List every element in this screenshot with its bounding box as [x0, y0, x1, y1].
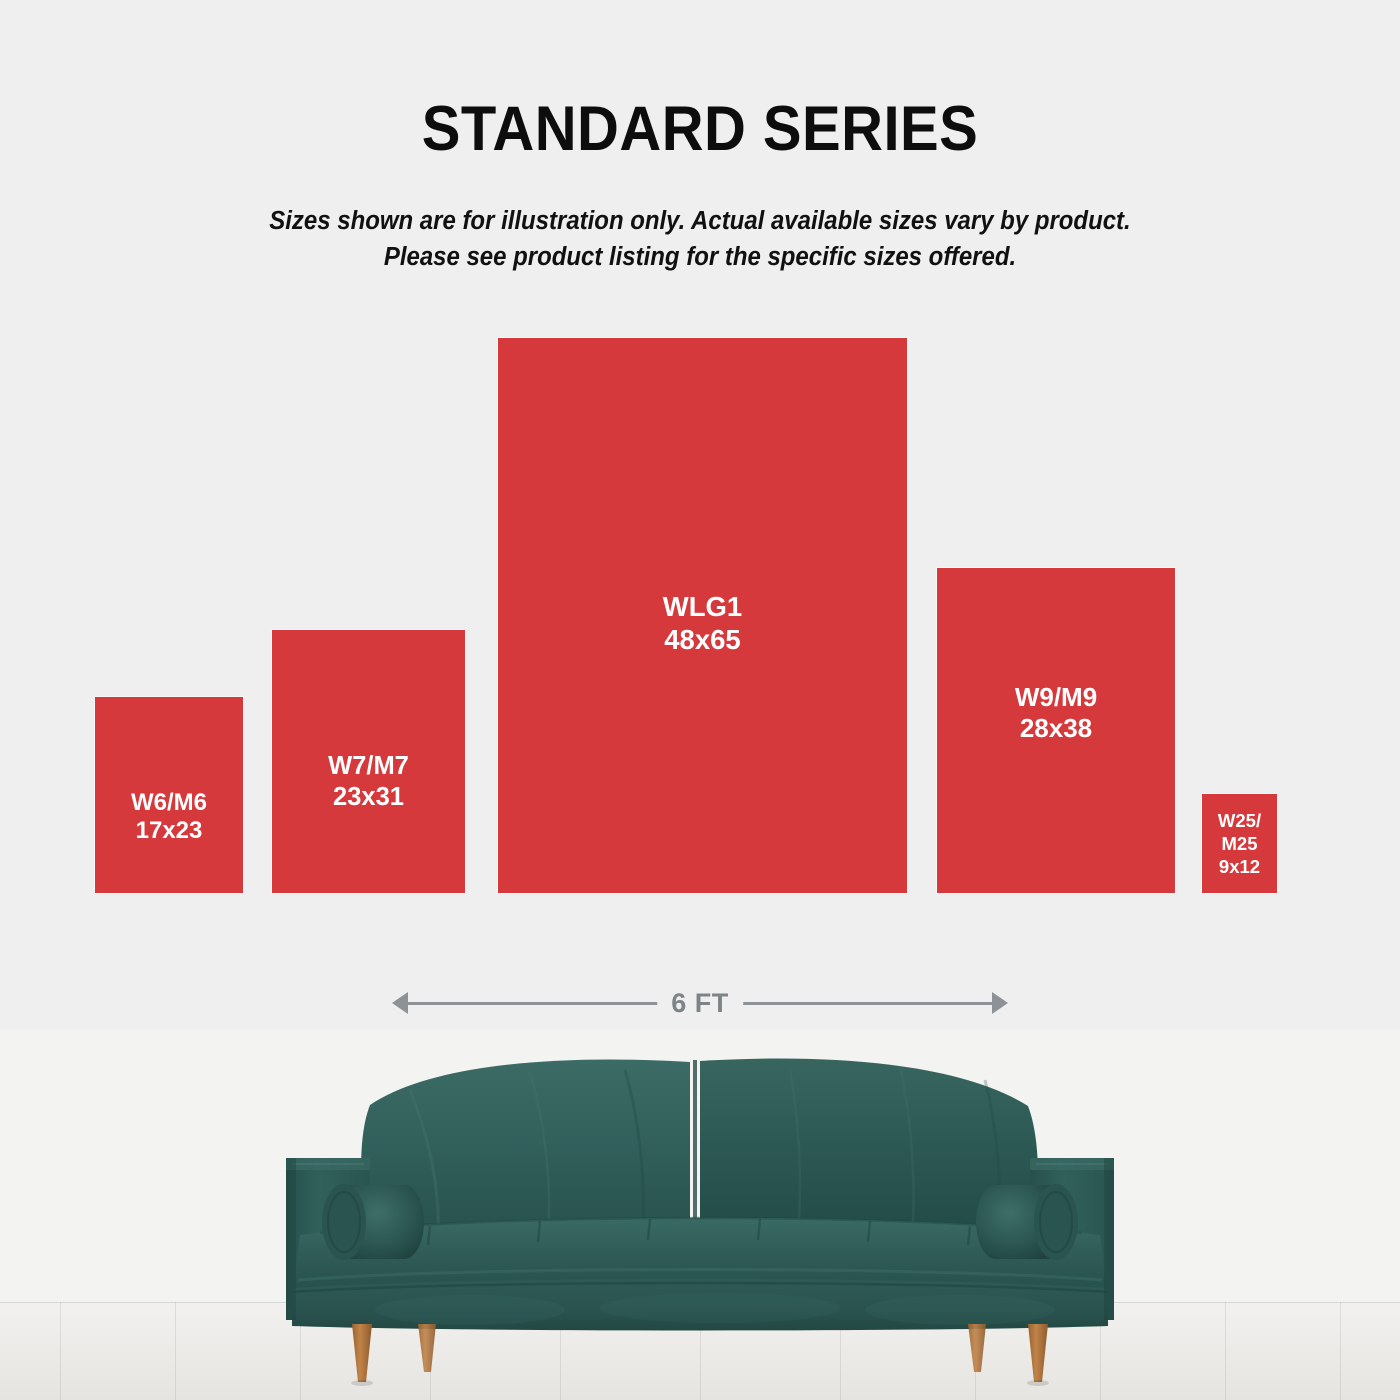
- frame-label: WLG1 48x65: [498, 591, 907, 656]
- frame-swatch-w6-m6[interactable]: W6/M6 17x23: [95, 697, 243, 893]
- velvet-sofa-illustration: [0, 1030, 1400, 1400]
- frame-label: W25/ M25 9x12: [1202, 809, 1277, 879]
- dimension-label: 6 FT: [657, 985, 743, 1021]
- frame-swatch-w9-m9[interactable]: W9/M9 28x38: [937, 568, 1175, 893]
- page-title: STANDARD SERIES: [56, 98, 1344, 161]
- width-dimension-indicator: 6 FT: [392, 988, 1008, 1020]
- frame-swatch-wlg1[interactable]: WLG1 48x65: [498, 338, 907, 893]
- frame-label: W7/M7 23x31: [272, 751, 465, 811]
- subtitle: Sizes shown are for illustration only. A…: [221, 203, 1180, 275]
- frame-size: 17x23: [97, 817, 241, 845]
- frame-swatch-w7-m7[interactable]: W7/M7 23x31: [272, 630, 465, 893]
- frame-size: 48x65: [500, 624, 905, 656]
- subtitle-line-1: Sizes shown are for illustration only. A…: [269, 207, 1130, 235]
- frame-label: W9/M9 28x38: [937, 682, 1175, 743]
- frame-code: WLG1: [500, 591, 905, 623]
- frame-size: 23x31: [274, 782, 463, 812]
- frame-swatch-w25-m25[interactable]: W25/ M25 9x12: [1202, 794, 1277, 893]
- frame-label: W6/M6 17x23: [95, 789, 243, 846]
- frame-code-line-2: M25: [1204, 832, 1275, 855]
- frame-code: W7/M7: [274, 751, 463, 781]
- frame-code: W6/M6: [97, 789, 241, 817]
- arrow-right-icon: [992, 992, 1008, 1014]
- frame-size: 28x38: [939, 713, 1173, 744]
- frame-size: 9x12: [1204, 855, 1275, 878]
- size-guide-infographic: STANDARD SERIES Sizes shown are for illu…: [0, 0, 1400, 1400]
- subtitle-line-2: Please see product listing for the speci…: [221, 239, 1180, 275]
- frame-code-line-1: W25/: [1204, 809, 1275, 832]
- sofa-scene: [0, 1030, 1400, 1400]
- frame-code: W9/M9: [939, 682, 1173, 713]
